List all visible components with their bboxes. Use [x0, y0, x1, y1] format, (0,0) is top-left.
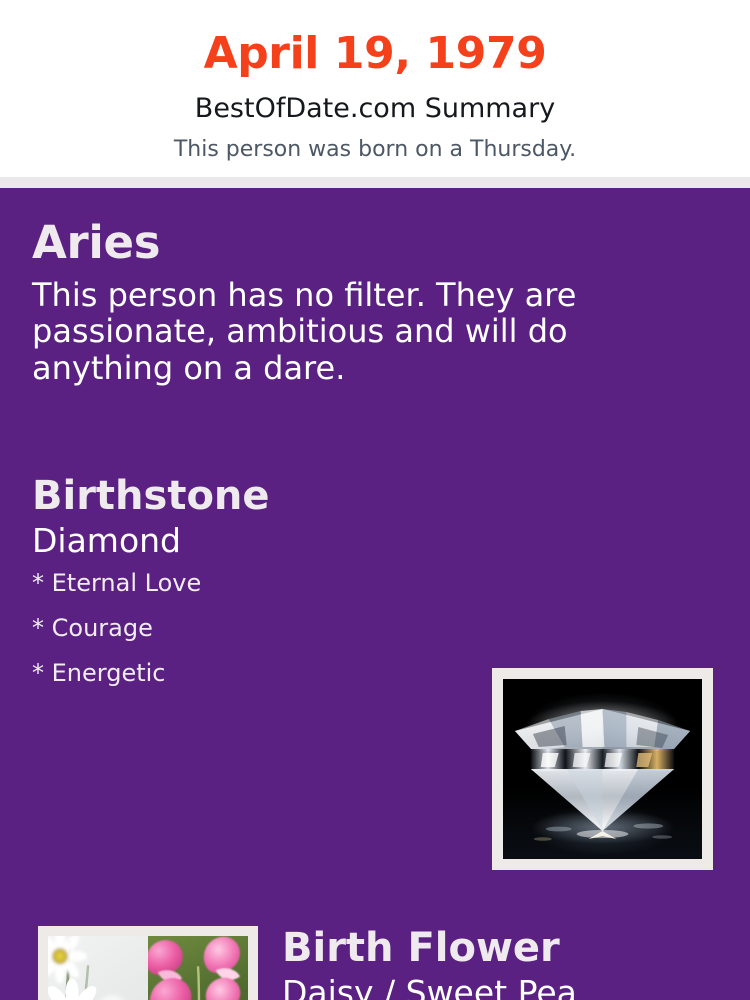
header: April 19, 1979 BestOfDate.com Summary Th… — [0, 0, 750, 177]
birthstone-image-frame — [492, 668, 713, 870]
zodiac-section: Aries This person has no filter. They ar… — [32, 220, 672, 386]
birthflower-name: Daisy / Sweet Pea — [282, 976, 722, 1000]
list-item: * Eternal Love — [32, 571, 462, 595]
zodiac-description: This person has no filter. They are pass… — [32, 277, 652, 386]
content-panel: Aries This person has no filter. They ar… — [0, 188, 750, 1000]
birthflower-image-frame — [38, 926, 258, 1000]
list-item: * Courage — [32, 616, 462, 640]
daisy-icon — [48, 936, 148, 1000]
sweet-pea-photo-half — [148, 936, 248, 1000]
birthflower-section: Birth Flower Daisy / Sweet Pea * Purity … — [282, 928, 722, 1000]
zodiac-sign-name: Aries — [32, 220, 672, 265]
birthflower-heading: Birth Flower — [282, 928, 722, 968]
header-divider — [0, 177, 750, 188]
sweet-pea-icon — [148, 936, 248, 1000]
site-subtitle: BestOfDate.com Summary — [0, 76, 750, 122]
birthstone-image — [503, 679, 702, 859]
birthstone-heading: Birthstone — [32, 476, 462, 516]
diamond-photo — [503, 679, 702, 859]
list-item: * Energetic — [32, 661, 462, 685]
birthstone-name: Diamond — [32, 524, 462, 557]
birthflower-image — [48, 936, 248, 1000]
daisy-photo-half — [48, 936, 148, 1000]
birthstone-traits: * Eternal Love * Courage * Energetic — [32, 571, 462, 685]
page-title: April 19, 1979 — [0, 0, 750, 76]
birthstone-section: Birthstone Diamond * Eternal Love * Cour… — [32, 476, 462, 706]
diamond-icon — [503, 679, 702, 859]
born-day-text: This person was born on a Thursday. — [0, 122, 750, 161]
summary-card: April 19, 1979 BestOfDate.com Summary Th… — [0, 0, 750, 1000]
flower-photo — [48, 936, 248, 1000]
